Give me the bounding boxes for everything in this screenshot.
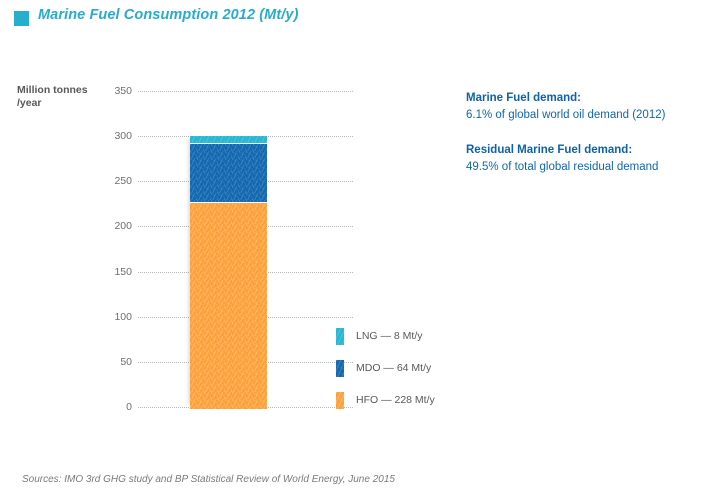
fact-block: Residual Marine Fuel demand: 49.5% of to… — [466, 142, 706, 176]
fact-block: Marine Fuel demand: 6.1% of global world… — [466, 90, 706, 124]
legend-swatch-icon — [336, 328, 344, 345]
bar-segment-hfo[interactable] — [190, 202, 267, 409]
legend-label: LNG — 8 Mt/y — [356, 330, 423, 342]
y-tick-label: 350 — [94, 86, 132, 96]
y-tick-label: 0 — [94, 402, 132, 412]
fact-body: 6.1% of global world oil demand (2012) — [466, 107, 706, 124]
y-tick-label: 300 — [94, 131, 132, 141]
chart-plot-area: 050100150200250300350 — [0, 0, 712, 498]
gridline — [138, 91, 353, 92]
fact-heading: Residual Marine Fuel demand: — [466, 142, 706, 159]
legend-label: MDO — 64 Mt/y — [356, 362, 431, 374]
bar-segment-mdo[interactable] — [190, 143, 267, 202]
key-facts-panel: Marine Fuel demand: 6.1% of global world… — [466, 90, 706, 194]
legend-swatch-icon — [336, 360, 344, 377]
y-tick-label: 200 — [94, 221, 132, 231]
y-tick-label: 100 — [94, 312, 132, 322]
y-tick-label: 50 — [94, 357, 132, 367]
fact-body: 49.5% of total global residual demand — [466, 159, 706, 176]
legend-label: HFO — 228 Mt/y — [356, 394, 435, 406]
y-tick-label: 150 — [94, 267, 132, 277]
stacked-bar[interactable] — [190, 136, 267, 407]
y-tick-label: 250 — [94, 176, 132, 186]
sources-note: Sources: IMO 3rd GHG study and BP Statis… — [22, 474, 395, 485]
legend-swatch-icon — [336, 392, 344, 409]
fact-heading: Marine Fuel demand: — [466, 90, 706, 107]
bar-segment-lng[interactable] — [190, 136, 267, 143]
